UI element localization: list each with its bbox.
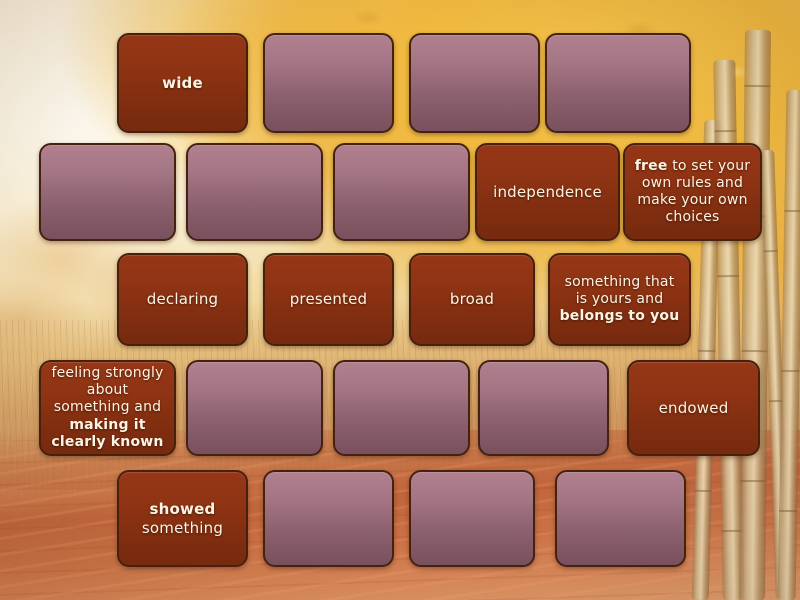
tile-face-down[interactable] xyxy=(409,33,540,133)
tile-face-down[interactable] xyxy=(545,33,691,133)
tile-label: something that is yours and belongs to y… xyxy=(559,274,680,325)
tile-face-up[interactable]: showed something xyxy=(117,470,248,567)
tile-face-up[interactable]: wide xyxy=(117,33,248,133)
tile-face-down[interactable] xyxy=(186,143,323,241)
tile-face-up[interactable]: presented xyxy=(263,253,394,346)
tile-face-up[interactable]: broad xyxy=(409,253,535,346)
tile-face-down[interactable] xyxy=(186,360,323,456)
tile-face-down[interactable] xyxy=(409,470,535,567)
tile-face-down[interactable] xyxy=(39,143,176,241)
tile-face-down[interactable] xyxy=(333,360,470,456)
tile-face-up[interactable]: endowed xyxy=(627,360,760,456)
game-board: wideindependencefree to set your own rul… xyxy=(0,0,800,600)
tile-face-down[interactable] xyxy=(333,143,470,241)
tile-face-down[interactable] xyxy=(555,470,686,567)
tile-face-down[interactable] xyxy=(478,360,609,456)
tile-label: wide xyxy=(162,74,203,92)
tile-face-down[interactable] xyxy=(263,470,394,567)
tile-label: endowed xyxy=(659,399,729,417)
tile-label: feeling strongly about something and mak… xyxy=(50,365,165,450)
tile-face-up[interactable]: feeling strongly about something and mak… xyxy=(39,360,176,456)
tile-face-up[interactable]: something that is yours and belongs to y… xyxy=(548,253,691,346)
tile-face-down[interactable] xyxy=(263,33,394,133)
tile-face-up[interactable]: independence xyxy=(475,143,620,241)
tile-label: declaring xyxy=(147,290,219,308)
tile-label: free to set your own rules and make your… xyxy=(634,158,751,226)
tile-label: showed something xyxy=(128,500,237,537)
tile-label: broad xyxy=(450,290,494,308)
tile-label: presented xyxy=(290,290,368,308)
tile-face-up[interactable]: declaring xyxy=(117,253,248,346)
tile-label: independence xyxy=(493,183,602,201)
tile-face-up[interactable]: free to set your own rules and make your… xyxy=(623,143,762,241)
